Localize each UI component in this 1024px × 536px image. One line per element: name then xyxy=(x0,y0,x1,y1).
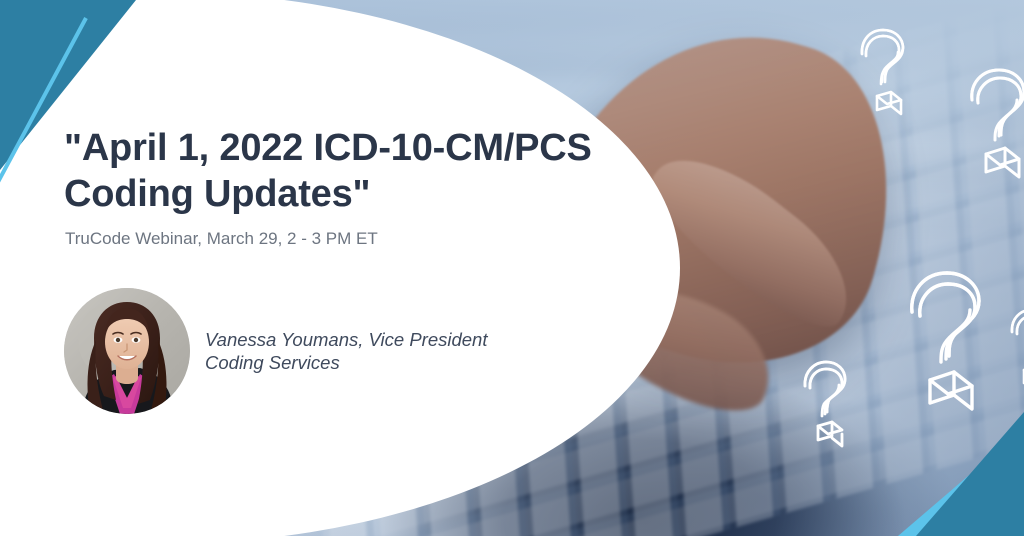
question-mark-icon xyxy=(888,258,1006,428)
page-title: "April 1, 2022 ICD-10-CM/PCS Coding Upda… xyxy=(64,125,624,217)
presenter-name: Vanessa Youmans, Vice PresidentCoding Se… xyxy=(205,328,605,374)
title-line-1: "April 1, 2022 ICD-10-CM/PCS xyxy=(64,127,592,169)
presenter-department: Coding Services xyxy=(205,351,605,374)
title-line-2: Coding Updates" xyxy=(64,173,370,215)
slide-content: "April 1, 2022 ICD-10-CM/PCS Coding Upda… xyxy=(0,0,660,536)
question-mark-icon xyxy=(1000,300,1024,404)
headshot-image xyxy=(64,288,190,414)
presenter-name-role: Vanessa Youmans, Vice President xyxy=(205,328,605,351)
webinar-promo-slide: "April 1, 2022 ICD-10-CM/PCS Coding Upda… xyxy=(0,0,1024,536)
question-mark-icon xyxy=(952,58,1024,194)
question-mark-icon xyxy=(792,352,856,462)
question-mark-icon xyxy=(846,18,918,136)
avatar xyxy=(64,288,190,414)
webinar-subtitle: TruCode Webinar, March 29, 2 - 3 PM ET xyxy=(65,227,378,251)
